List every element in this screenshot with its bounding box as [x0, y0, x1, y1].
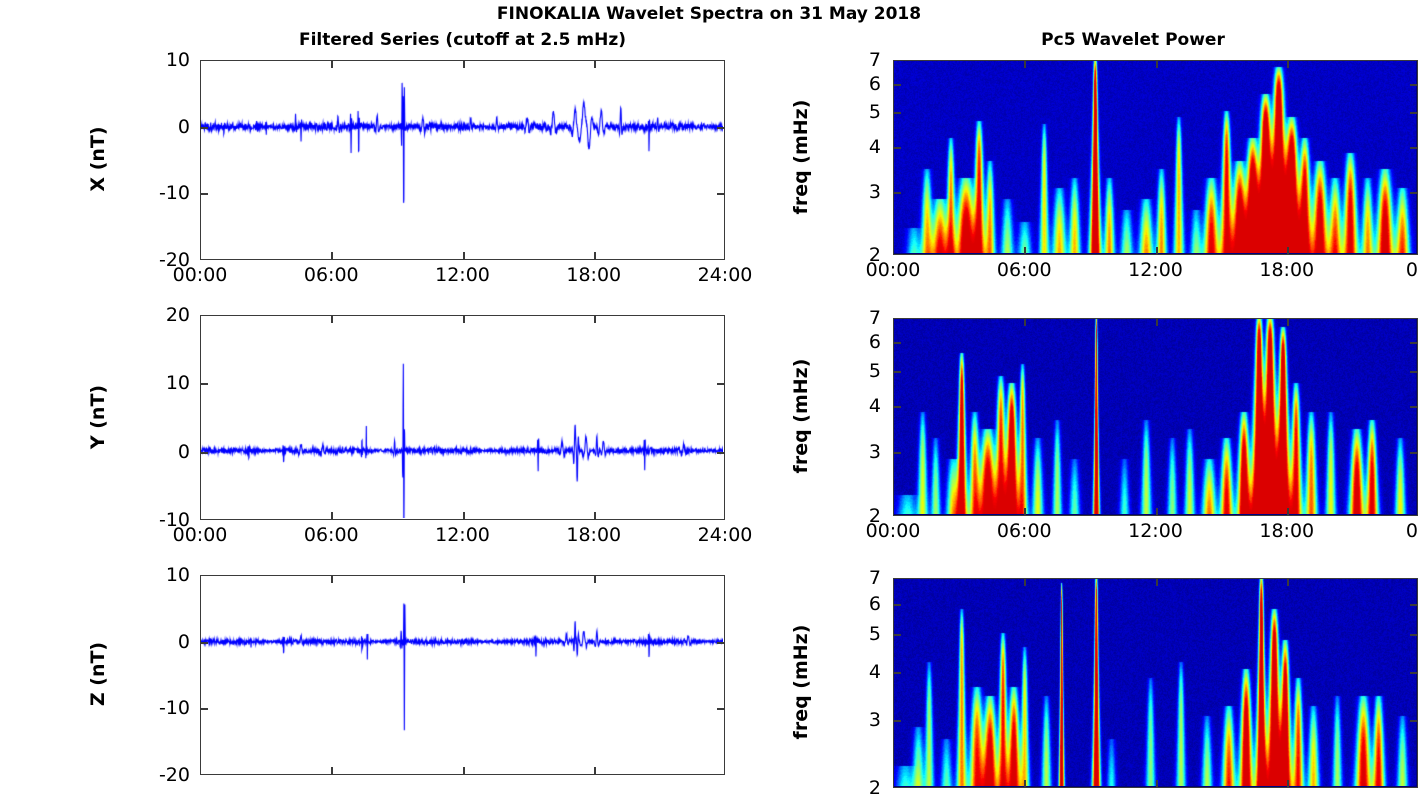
axis-tick — [1410, 147, 1417, 149]
y-spectrogram-xtick-label: 12:00 — [1128, 520, 1183, 542]
axis-tick — [894, 672, 901, 674]
axis-tick — [1156, 579, 1158, 586]
axis-tick — [201, 708, 208, 710]
x-timeseries-ytick-label: -10 — [130, 182, 190, 204]
z-spectrogram-ytick-label: 3 — [821, 709, 881, 731]
axis-tick — [1410, 84, 1417, 86]
axis-tick — [1410, 672, 1417, 674]
y-spectrogram-ylabel: freq (mHz) — [790, 316, 812, 516]
axis-tick — [331, 252, 333, 259]
axis-tick — [463, 61, 465, 68]
x-spectrogram-xtick-label: 12:00 — [1128, 259, 1183, 281]
y-spectrogram-xtick-label: 06:00 — [997, 520, 1052, 542]
axis-tick — [1410, 112, 1417, 114]
axis-tick — [594, 512, 596, 519]
x-timeseries-xtick-label: 24:00 — [698, 264, 753, 286]
axis-tick — [1287, 319, 1289, 326]
x-spectrogram-ylabel: freq (mHz) — [790, 57, 812, 257]
z-spectrogram-ylabel: freq (mHz) — [790, 582, 812, 782]
y-spectrogram-ytick-label: 6 — [821, 331, 881, 353]
axis-tick — [1287, 61, 1289, 68]
y-timeseries-ytick-label: 10 — [130, 372, 190, 394]
axis-tick — [1410, 604, 1417, 606]
axis-tick — [201, 193, 208, 195]
axis-tick — [1156, 780, 1158, 787]
y-timeseries-xtick-label: 18:00 — [566, 524, 621, 546]
z-spectrogram-ytick-label: 4 — [821, 661, 881, 683]
axis-tick — [594, 576, 596, 583]
x-spectrogram-xtick-label: 06:00 — [997, 259, 1052, 281]
axis-tick — [1410, 634, 1417, 636]
axis-tick — [1287, 579, 1289, 586]
y-timeseries-xtick-label: 06:00 — [304, 524, 359, 546]
axis-tick — [1287, 247, 1289, 254]
axis-tick — [894, 452, 901, 454]
z-timeseries-ytick-label: 10 — [130, 564, 190, 586]
z-timeseries-ytick-label: -10 — [130, 697, 190, 719]
y-timeseries-ylabel: Y (nT) — [87, 317, 109, 517]
axis-tick — [894, 192, 901, 194]
axis-tick — [201, 452, 208, 454]
z-spectrogram-ytick-label: 5 — [821, 623, 881, 645]
x-spectrogram-ytick-label: 6 — [821, 73, 881, 95]
x-timeseries-xtick-label: 06:00 — [304, 264, 359, 286]
x-timeseries-ytick-label: 10 — [130, 49, 190, 71]
axis-tick — [1410, 452, 1417, 454]
axis-tick — [1410, 192, 1417, 194]
axis-tick — [463, 512, 465, 519]
axis-tick — [1156, 61, 1158, 68]
figure-root: FINOKALIA Wavelet Spectra on 31 May 2018… — [0, 0, 1418, 788]
axis-tick — [1410, 371, 1417, 373]
axis-tick — [331, 512, 333, 519]
axis-tick — [331, 61, 333, 68]
axis-tick — [1024, 780, 1026, 787]
axis-tick — [1410, 720, 1417, 722]
y-timeseries-xtick-label: 24:00 — [698, 524, 753, 546]
x-timeseries-ytick-label: 0 — [130, 116, 190, 138]
axis-tick — [1156, 508, 1158, 515]
axis-tick — [717, 193, 724, 195]
axis-tick — [894, 342, 901, 344]
axis-tick — [463, 576, 465, 583]
axis-tick — [894, 406, 901, 408]
axis-tick — [894, 84, 901, 86]
axis-tick — [894, 604, 901, 606]
axis-tick — [331, 576, 333, 583]
x-spectrogram-ytick-label: 5 — [821, 101, 881, 123]
axis-tick — [1024, 508, 1026, 515]
z-spectrogram-canvas — [894, 579, 1416, 786]
y-spectrogram-ytick-label: 4 — [821, 395, 881, 417]
axis-tick — [201, 642, 208, 644]
x-timeseries-xtick-label: 12:00 — [435, 264, 490, 286]
axis-tick — [894, 112, 901, 114]
axis-tick — [201, 127, 208, 129]
z-spectrogram-ytick-label: 7 — [821, 567, 881, 589]
x-spectrogram-canvas — [894, 61, 1416, 253]
x-spectrogram-ytick-label: 3 — [821, 181, 881, 203]
y-spectrogram-ytick-label: 5 — [821, 360, 881, 382]
axis-tick — [594, 767, 596, 774]
y-timeseries-xtick-label: 00:00 — [173, 524, 228, 546]
z-spectrogram-ytick-label: 2 — [821, 777, 881, 799]
y-spectrogram-ytick-label: 3 — [821, 441, 881, 463]
axis-tick — [1410, 406, 1417, 408]
axis-tick — [717, 642, 724, 644]
x-spectrogram-axes — [893, 60, 1418, 255]
y-spectrogram-ytick-label: 7 — [821, 307, 881, 329]
z-timeseries-axes — [200, 575, 725, 775]
y-timeseries-ytick-label: 0 — [130, 441, 190, 463]
axis-tick — [331, 316, 333, 323]
y-timeseries-axes — [200, 315, 725, 520]
z-spectrogram-axes — [893, 578, 1418, 788]
x-spectrogram-xtick-label: 18:00 — [1259, 259, 1314, 281]
axis-tick — [463, 767, 465, 774]
z-timeseries-ylabel: Z (nT) — [87, 574, 109, 774]
axis-tick — [1156, 247, 1158, 254]
axis-tick — [894, 147, 901, 149]
x-spectrogram-ytick-label: 7 — [821, 49, 881, 71]
x-timeseries-axes — [200, 60, 725, 260]
left-column-title: Filtered Series (cutoff at 2.5 mHz) — [200, 30, 725, 50]
axis-tick — [594, 316, 596, 323]
axis-tick — [1410, 342, 1417, 344]
x-spectrogram-xtick-label: 00 — [1406, 259, 1418, 281]
z-spectrogram-ytick-label: 6 — [821, 593, 881, 615]
x-timeseries-ylabel: X (nT) — [87, 59, 109, 259]
x-spectrogram-xtick-label: 00:00 — [866, 259, 921, 281]
figure-title: FINOKALIA Wavelet Spectra on 31 May 2018 — [0, 4, 1418, 24]
axis-tick — [1024, 319, 1026, 326]
axis-tick — [331, 767, 333, 774]
x-timeseries-xtick-label: 00:00 — [173, 264, 228, 286]
axis-tick — [717, 708, 724, 710]
right-column-title: Pc5 Wavelet Power — [893, 30, 1373, 50]
axis-tick — [463, 252, 465, 259]
x-timeseries-canvas — [201, 61, 723, 258]
y-spectrogram-xtick-label: 00 — [1406, 520, 1418, 542]
axis-tick — [894, 371, 901, 373]
axis-tick — [717, 127, 724, 129]
axis-tick — [1024, 247, 1026, 254]
y-spectrogram-axes — [893, 318, 1418, 516]
x-timeseries-xtick-label: 18:00 — [566, 264, 621, 286]
z-timeseries-ytick-label: -20 — [130, 764, 190, 786]
axis-tick — [717, 452, 724, 454]
y-spectrogram-canvas — [894, 319, 1416, 514]
axis-tick — [894, 720, 901, 722]
axis-tick — [717, 383, 724, 385]
y-spectrogram-xtick-label: 00:00 — [866, 520, 921, 542]
axis-tick — [463, 316, 465, 323]
z-timeseries-canvas — [201, 576, 723, 773]
z-timeseries-ytick-label: 0 — [130, 631, 190, 653]
axis-tick — [1156, 319, 1158, 326]
axis-tick — [1287, 780, 1289, 787]
axis-tick — [201, 383, 208, 385]
axis-tick — [1287, 508, 1289, 515]
y-spectrogram-xtick-label: 18:00 — [1259, 520, 1314, 542]
y-timeseries-ytick-label: 20 — [130, 304, 190, 326]
axis-tick — [594, 252, 596, 259]
axis-tick — [1024, 61, 1026, 68]
axis-tick — [594, 61, 596, 68]
axis-tick — [1024, 579, 1026, 586]
axis-tick — [894, 634, 901, 636]
x-spectrogram-ytick-label: 4 — [821, 136, 881, 158]
y-timeseries-xtick-label: 12:00 — [435, 524, 490, 546]
y-timeseries-canvas — [201, 316, 723, 518]
